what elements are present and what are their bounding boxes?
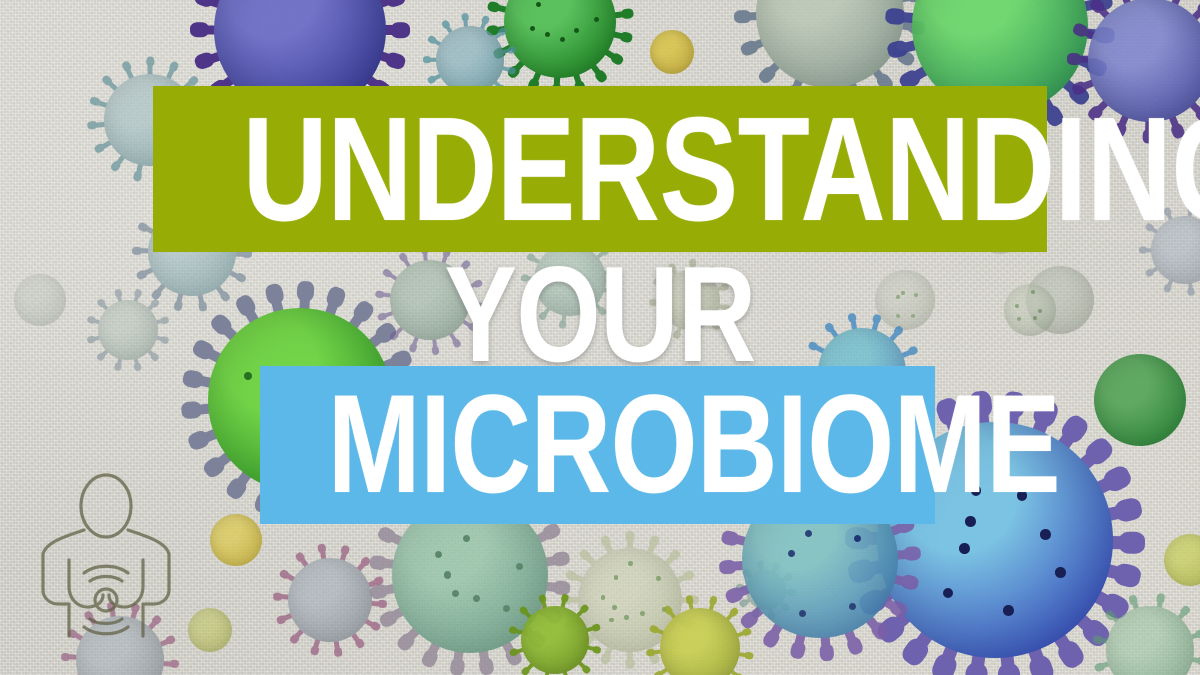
virus-body [521,606,589,674]
virus-particle [650,30,694,74]
virus-particle [756,0,904,88]
virus-dot [959,543,970,554]
virus-dot [545,32,550,37]
icon-left-shoulder [43,530,84,604]
virus-dot [594,17,599,22]
icon-wave-top-1 [90,577,122,582]
virus-body [1094,354,1186,446]
virus-dot [601,595,606,600]
icon-head [81,475,131,537]
virus-dot [656,576,661,581]
virus-inner-dots [1004,284,1056,336]
virus-particle [521,606,589,674]
virus-dot [1031,290,1035,294]
virus-dot [849,603,856,610]
virus-particle [660,608,740,675]
virus-dot [628,561,633,566]
virus-dot [624,615,629,620]
virus-body [98,300,158,360]
icon-right-shoulder [128,530,169,604]
virus-particle [288,558,372,642]
virus-dot [574,28,579,33]
virus-dot [536,2,541,7]
virus-dot [444,571,451,578]
virus-dot [612,605,617,610]
virus-particle [436,26,504,94]
virus-body [1164,534,1200,586]
digestive-health-person-icon [26,468,186,646]
virus-dot [943,588,954,599]
virus-body [436,26,504,94]
title-line-your: YOUR [242,246,957,382]
icon-stomach-center [95,589,117,611]
virus-dot [530,26,535,31]
virus-dot [788,550,795,557]
icon-wave-bottom-1 [90,619,122,624]
virus-dot [1040,529,1051,540]
virus-dot [463,535,470,542]
virus-dot [1015,304,1019,308]
virus-particle [1094,354,1186,446]
virus-particle [504,0,616,78]
virus-body [650,30,694,74]
virus-dot [435,551,442,558]
virus-dot [503,605,510,612]
virus-body [288,558,372,642]
virus-dot [1055,567,1066,578]
virus-dot [854,535,861,542]
virus-dot [452,590,459,597]
virus-dot [516,563,523,570]
virus-dot [1033,316,1037,320]
virus-dot [805,530,812,537]
title-line-understanding: UNDERSTANDING [242,96,957,244]
virus-dot [560,37,565,42]
icon-wave-top-2 [84,566,128,573]
virus-dot [1003,605,1014,616]
virus-particle [14,274,66,326]
video-thumbnail: UNDERSTANDING YOUR MICROBIOME [0,0,1200,675]
virus-particle [1164,534,1200,586]
virus-body [14,274,66,326]
virus-dot [799,610,806,617]
icon-wave-bottom-2 [84,627,128,634]
virus-dot [614,575,619,580]
virus-dot [609,618,614,623]
virus-dot [1017,317,1021,321]
title-line-microbiome: MICROBIOME [328,374,868,514]
virus-particle [98,300,158,360]
virus-particle [210,514,262,566]
virus-body [210,514,262,566]
virus-particle [1004,284,1056,336]
virus-body [188,608,232,652]
virus-dot [473,595,480,602]
virus-dot [640,611,645,616]
virus-dot [1038,309,1042,313]
virus-particle [188,608,232,652]
